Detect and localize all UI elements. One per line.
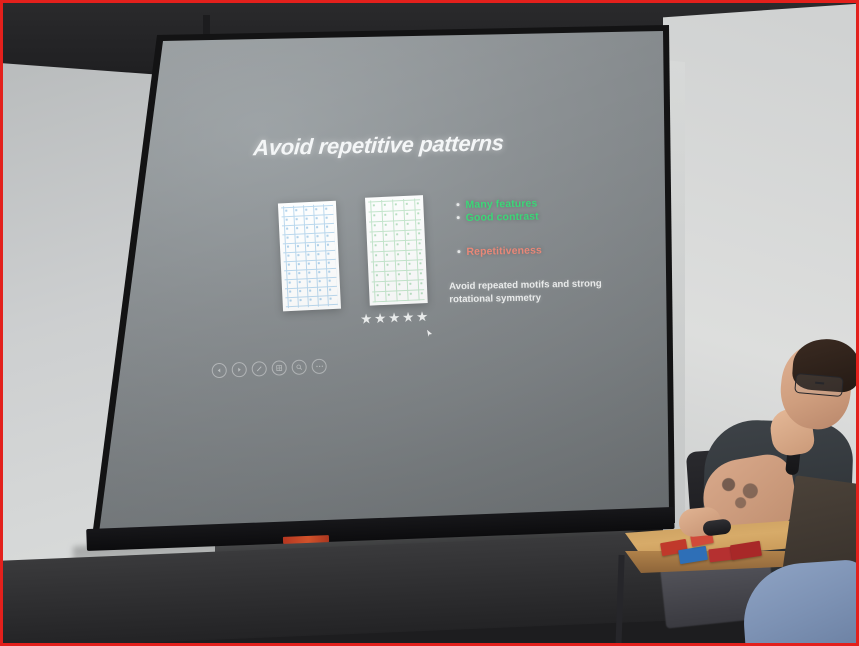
screen-brand-label bbox=[283, 535, 329, 544]
photo-scene: Avoid repetitive patterns Many features bbox=[0, 0, 859, 646]
screen-glare bbox=[85, 25, 675, 545]
projector-screen: Avoid repetitive patterns Many features bbox=[85, 25, 675, 545]
glasses bbox=[794, 373, 844, 397]
